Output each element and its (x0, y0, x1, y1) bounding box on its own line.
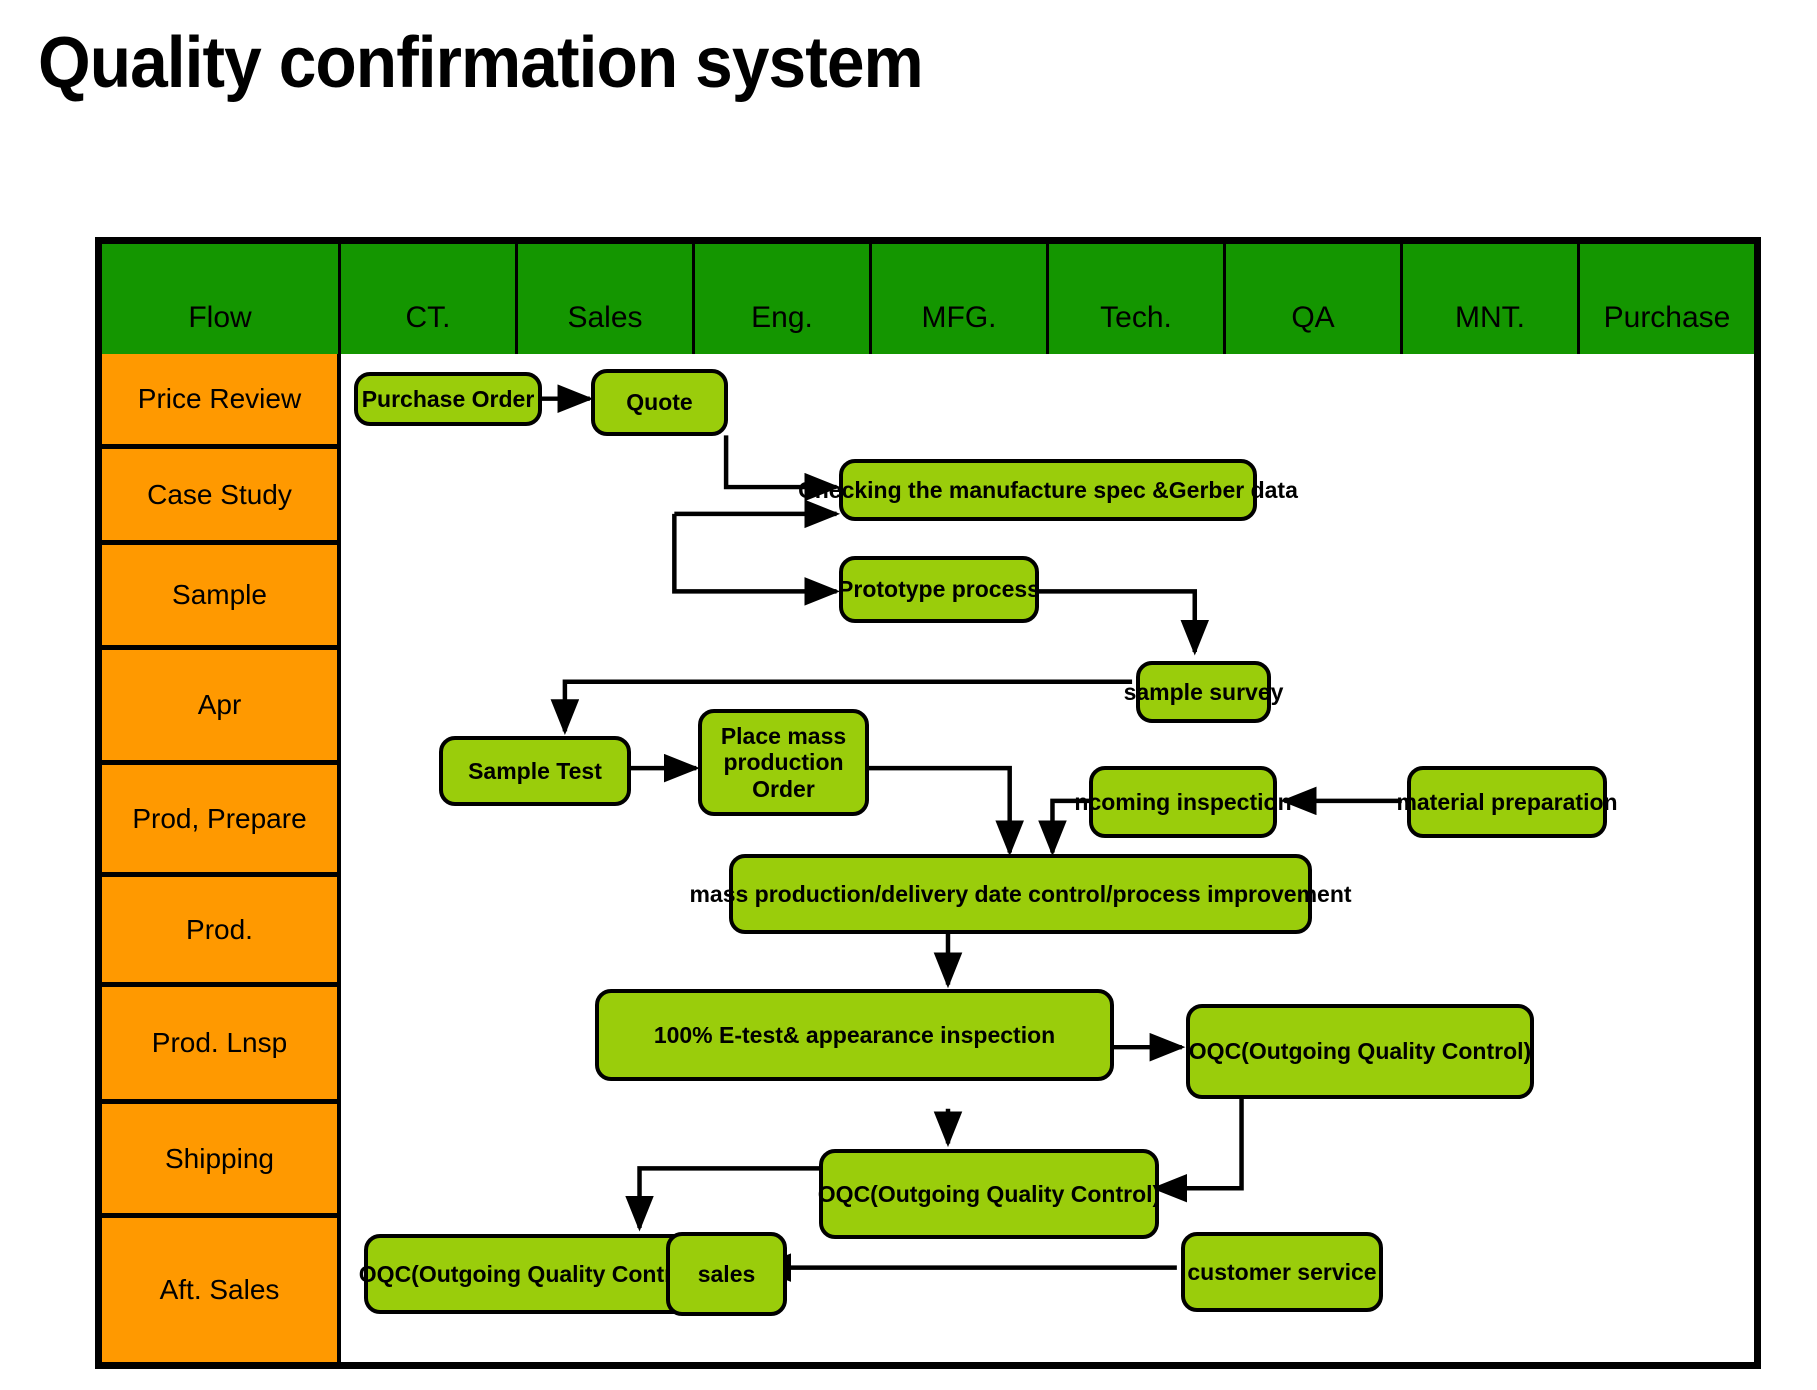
stage-row-label: Prod. (186, 914, 253, 946)
stage-row-label: Price Review (138, 383, 301, 415)
column-header-label: QA (1291, 301, 1334, 335)
quality-flow-matrix: Flow CT. Sales Eng. MFG. Tech. QA MNT. P… (95, 237, 1761, 1369)
node-material-preparation[interactable]: material preparation (1407, 766, 1607, 838)
column-header-mnt: MNT. (1403, 244, 1580, 354)
stage-row-shipping: Shipping (102, 1104, 337, 1218)
column-header-sales: Sales (518, 244, 695, 354)
node-customer-service[interactable]: customer service (1181, 1232, 1383, 1312)
column-header-mfg: MFG. (872, 244, 1049, 354)
column-header-ct: CT. (341, 244, 518, 354)
node-label: material preparation (1396, 789, 1617, 815)
node-oqc-right[interactable]: OQC(Outgoing Quality Control) (1186, 1004, 1534, 1099)
node-label: Purchase Order (362, 386, 535, 412)
matrix-header-row: Flow CT. Sales Eng. MFG. Tech. QA MNT. P… (102, 244, 1754, 354)
node-oqc-middle[interactable]: OQC(Outgoing Quality Control) (819, 1149, 1159, 1239)
stage-row-label: Shipping (165, 1143, 274, 1175)
stage-row-label: Apr (198, 689, 242, 721)
column-header-flow: Flow (102, 244, 341, 354)
stage-row-label: Sample (172, 579, 267, 611)
stage-row-label: Prod, Prepare (132, 803, 306, 835)
column-header-label: Purchase (1604, 301, 1731, 335)
column-header-eng: Eng. (695, 244, 872, 354)
node-quote[interactable]: Quote (591, 369, 728, 436)
node-prototype-process[interactable]: Prototype process (839, 556, 1039, 623)
node-sales[interactable]: sales (666, 1232, 787, 1316)
column-header-label: Tech. (1100, 301, 1172, 335)
node-label: Sample Test (468, 758, 602, 784)
node-label: customer service (1187, 1259, 1376, 1285)
node-mass-production[interactable]: mass production/delivery date control/pr… (729, 854, 1312, 934)
stage-row-prod-lnsp: Prod. Lnsp (102, 987, 337, 1104)
stage-row-price-review: Price Review (102, 354, 337, 449)
column-header-purchase: Purchase (1580, 244, 1754, 354)
stage-row-sample: Sample (102, 545, 337, 650)
column-header-tech: Tech. (1049, 244, 1226, 354)
connector-oqc-right-to-oqc-middle (1155, 1094, 1242, 1188)
node-label: Prototype process (838, 576, 1040, 602)
node-label: Quote (626, 389, 692, 415)
stage-row-apr: Apr (102, 650, 337, 765)
connector-place-mass-order-to-mass-production (866, 768, 1009, 852)
node-label: Place mass production Order (706, 723, 861, 802)
node-sample-survey[interactable]: sample survey (1136, 661, 1271, 723)
node-label: 100% E-test& appearance inspection (654, 1022, 1055, 1048)
column-header-label: MFG. (922, 301, 997, 335)
stage-row-label: Aft. Sales (160, 1274, 280, 1306)
stage-row-prod-prepare: Prod, Prepare (102, 765, 337, 877)
column-header-label: Flow (188, 301, 251, 335)
node-label: OQC(Outgoing Quality Control) (818, 1181, 1160, 1207)
node-checking-spec[interactable]: Checking the manufacture spec &Gerber da… (839, 459, 1257, 521)
column-header-label: Eng. (751, 301, 813, 335)
stage-row-label: Case Study (147, 479, 292, 511)
page-title: Quality confirmation system (38, 22, 923, 104)
node-label: ncoming inspection (1074, 789, 1291, 815)
stage-row-prod: Prod. (102, 877, 337, 987)
node-label: Checking the manufacture spec &Gerber da… (798, 477, 1298, 503)
node-label: OQC(Outgoing Quality Control) (359, 1261, 701, 1287)
flow-stage-column: Price Review Case Study Sample Apr Prod,… (102, 354, 341, 1362)
node-etest-inspection[interactable]: 100% E-test& appearance inspection (595, 989, 1114, 1081)
stage-row-case-study: Case Study (102, 449, 337, 545)
flow-diagram-canvas: Purchase Order Quote Checking the manufa… (341, 354, 1754, 1362)
node-incoming-inspection[interactable]: ncoming inspection (1089, 766, 1277, 838)
connector-branch-to-prototype-process (674, 514, 836, 591)
node-oqc-left[interactable]: OQC(Outgoing Quality Control) (364, 1234, 696, 1314)
stage-row-aft-sales: Aft. Sales (102, 1218, 337, 1362)
column-header-label: CT. (406, 301, 451, 335)
node-label: sales (698, 1261, 756, 1287)
node-label: sample survey (1124, 679, 1284, 705)
node-purchase-order[interactable]: Purchase Order (354, 372, 542, 426)
column-header-label: MNT. (1455, 301, 1525, 335)
column-header-qa: QA (1226, 244, 1403, 354)
stage-row-label: Prod. Lnsp (152, 1027, 287, 1059)
node-sample-test[interactable]: Sample Test (439, 736, 631, 806)
column-header-label: Sales (567, 301, 642, 335)
node-label: OQC(Outgoing Quality Control) (1189, 1038, 1531, 1064)
node-place-mass-order[interactable]: Place mass production Order (698, 709, 869, 816)
node-label: mass production/delivery date control/pr… (689, 881, 1351, 907)
